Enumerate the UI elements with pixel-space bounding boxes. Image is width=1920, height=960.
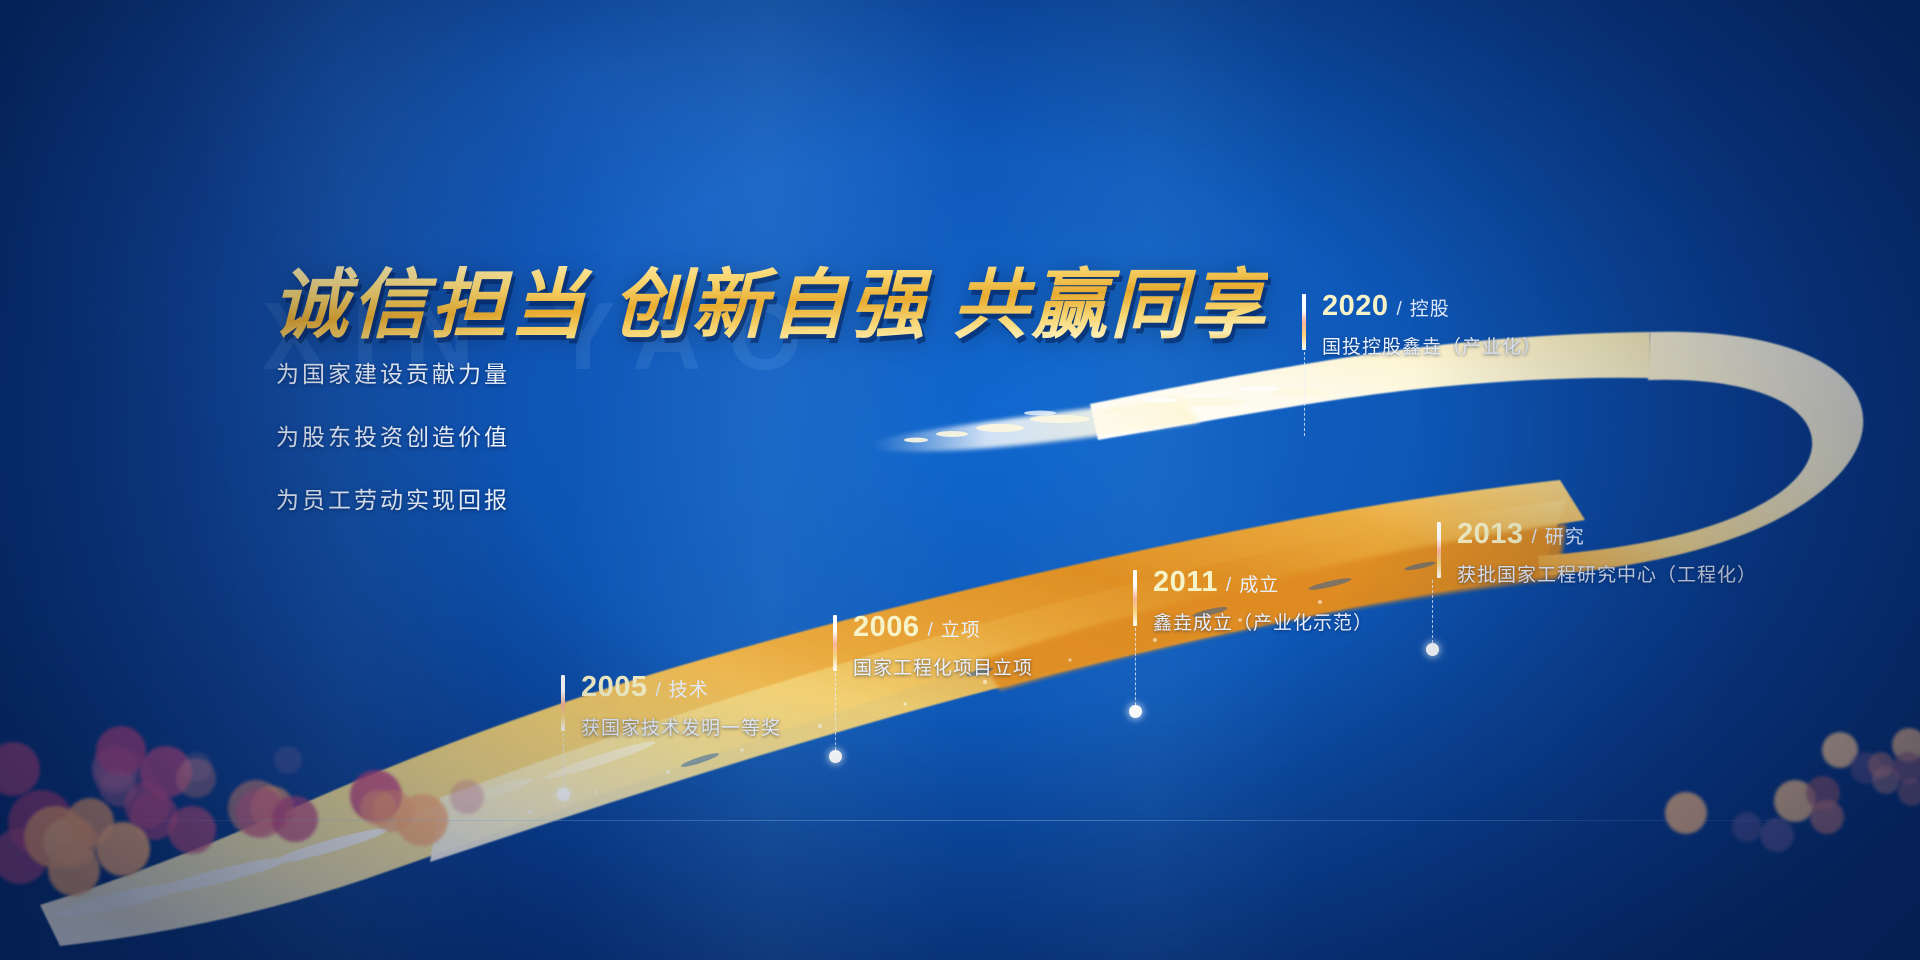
slogan-item: 为国家建设贡献力量 bbox=[276, 355, 510, 389]
milestone-separator: / bbox=[1397, 299, 1402, 321]
milestone-year: 2013 bbox=[1457, 520, 1524, 549]
milestone-tag: 成立 bbox=[1239, 570, 1279, 597]
milestone-2013[interactable]: 2013 / 研究 获批国家工程研究中心（工程化） bbox=[1437, 520, 1757, 587]
milestone-2005[interactable]: 2005 / 技术 获国家技术发明一等奖 bbox=[561, 673, 781, 740]
milestone-year: 2005 bbox=[581, 673, 648, 702]
milestone-dot-2013[interactable] bbox=[1426, 643, 1439, 656]
horizon-line bbox=[0, 820, 1920, 821]
milestone-tag: 控股 bbox=[1410, 294, 1450, 321]
milestone-separator: / bbox=[928, 620, 933, 642]
milestone-description: 获批国家工程研究中心（工程化） bbox=[1457, 560, 1757, 587]
milestone-dot-2005[interactable] bbox=[557, 788, 570, 801]
milestone-2020[interactable]: 2020 / 控股 国投控股鑫垚（产业化） bbox=[1302, 292, 1542, 359]
milestone-year: 2020 bbox=[1322, 292, 1389, 321]
milestone-year: 2011 bbox=[1153, 568, 1218, 597]
milestone-description: 鑫垚成立（产业化示范） bbox=[1153, 608, 1373, 635]
page-title: 诚信担当 创新自强 共赢同享 bbox=[272, 243, 1268, 353]
milestone-description: 获国家技术发明一等奖 bbox=[581, 713, 781, 740]
milestone-separator: / bbox=[1226, 575, 1231, 597]
milestone-accent-bar bbox=[1133, 570, 1137, 626]
milestone-2006[interactable]: 2006 / 立项 国家工程化项目立项 bbox=[833, 613, 1033, 680]
milestone-leader-line-2005 bbox=[563, 733, 564, 793]
milestone-accent-bar bbox=[1437, 522, 1441, 578]
milestone-leader-line-2011 bbox=[1135, 628, 1136, 710]
slogan-list: 为国家建设贡献力量 为股东投资创造价值 为员工劳动实现回报 bbox=[276, 355, 510, 515]
milestone-description: 国投控股鑫垚（产业化） bbox=[1322, 332, 1542, 359]
milestone-leader-line-2006 bbox=[835, 673, 836, 755]
milestone-leader-line-2013 bbox=[1432, 580, 1433, 648]
poster-canvas: XIN YAO 诚信担当 创新自强 共赢同享 为国家建设贡献力量 为股东投资创造… bbox=[0, 0, 1920, 960]
slogan-item: 为员工劳动实现回报 bbox=[276, 481, 510, 515]
milestone-tag: 研究 bbox=[1545, 522, 1585, 549]
milestone-separator: / bbox=[656, 680, 661, 702]
milestone-accent-bar bbox=[1302, 294, 1306, 350]
slogan-item: 为股东投资创造价值 bbox=[276, 418, 510, 452]
milestone-accent-bar bbox=[833, 615, 837, 671]
milestone-accent-bar bbox=[561, 675, 565, 731]
milestone-dot-2006[interactable] bbox=[829, 750, 842, 763]
milestone-leader-line-2020 bbox=[1304, 352, 1305, 436]
milestone-dot-2011[interactable] bbox=[1129, 705, 1142, 718]
milestone-tag: 技术 bbox=[669, 675, 709, 702]
milestone-description: 国家工程化项目立项 bbox=[853, 653, 1033, 680]
milestone-2011[interactable]: 2011 / 成立 鑫垚成立（产业化示范） bbox=[1133, 568, 1373, 635]
milestone-separator: / bbox=[1532, 527, 1537, 549]
milestone-tag: 立项 bbox=[941, 615, 981, 642]
milestone-year: 2006 bbox=[853, 613, 920, 642]
